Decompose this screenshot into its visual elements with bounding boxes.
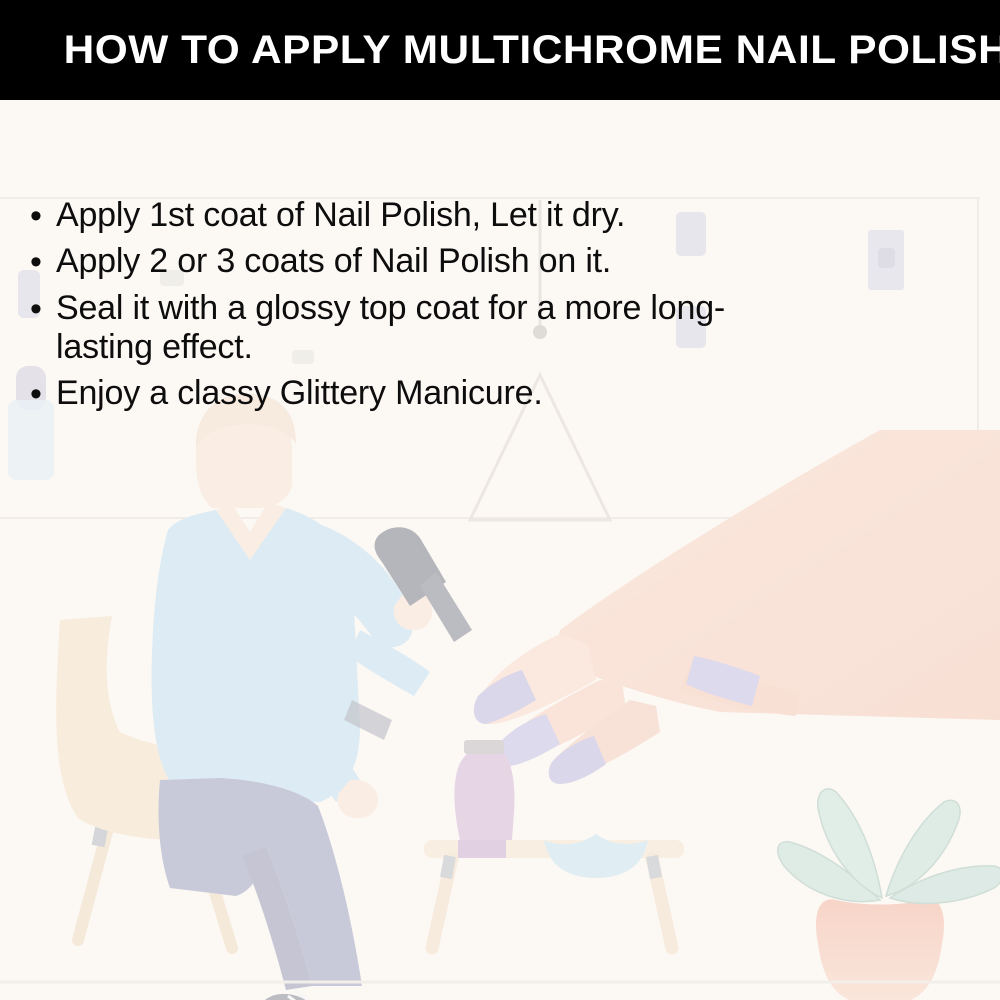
table-joint-right bbox=[652, 856, 656, 878]
poster-canvas: HOW TO APPLY MULTICHROME NAIL POLISH • A… bbox=[0, 0, 1000, 1000]
bullet-icon: • bbox=[30, 242, 56, 282]
instruction-text: Seal it with a glossy top coat for a mor… bbox=[56, 289, 776, 368]
page-title: HOW TO APPLY MULTICHROME NAIL POLISH bbox=[0, 30, 1000, 70]
bullet-icon: • bbox=[30, 289, 56, 329]
list-item: • Apply 1st coat of Nail Polish, Let it … bbox=[30, 196, 830, 236]
instruction-text: Apply 2 or 3 coats of Nail Polish on it. bbox=[56, 242, 611, 281]
list-item: • Seal it with a glossy top coat for a m… bbox=[30, 289, 830, 368]
bullet-icon: • bbox=[30, 196, 56, 236]
instruction-text: Apply 1st coat of Nail Polish, Let it dr… bbox=[56, 196, 625, 235]
table-joint-left bbox=[446, 856, 450, 878]
instructions-list: • Apply 1st coat of Nail Polish, Let it … bbox=[30, 196, 830, 420]
list-item: • Enjoy a classy Glittery Manicure. bbox=[30, 374, 830, 414]
instruction-text: Enjoy a classy Glittery Manicure. bbox=[56, 374, 543, 413]
wall-picture-frame bbox=[868, 230, 904, 290]
plant-pot bbox=[816, 899, 944, 1000]
bullet-icon: • bbox=[30, 374, 56, 414]
header-bar: HOW TO APPLY MULTICHROME NAIL POLISH bbox=[0, 0, 1000, 100]
list-item: • Apply 2 or 3 coats of Nail Polish on i… bbox=[30, 242, 830, 282]
